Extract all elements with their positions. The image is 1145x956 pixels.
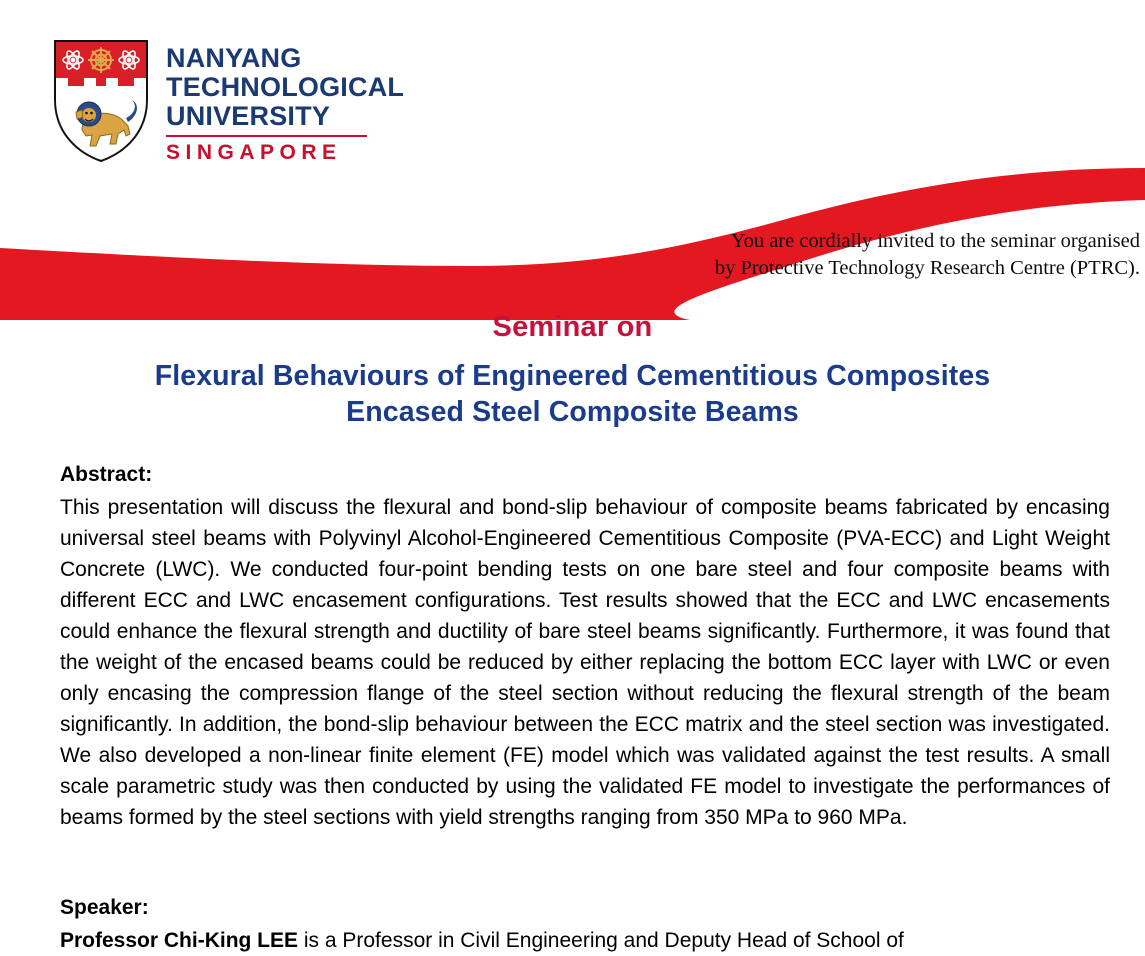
invitation-text: You are cordially invited to the seminar… <box>660 228 1140 282</box>
ntu-wordmark: NANYANG TECHNOLOGICAL UNIVERSITY SINGAPO… <box>166 38 404 165</box>
seminar-title: Flexural Behaviours of Engineered Cement… <box>0 358 1145 430</box>
ntu-crest-icon <box>52 38 150 164</box>
invitation-line-1: You are cordially invited to the seminar… <box>660 228 1140 255</box>
ntu-logo: NANYANG TECHNOLOGICAL UNIVERSITY SINGAPO… <box>52 38 404 165</box>
wordmark-line-nanyang: NANYANG <box>166 44 404 73</box>
seminar-title-line-2: Encased Steel Composite Beams <box>0 394 1145 430</box>
speaker-heading: Speaker: <box>60 896 149 920</box>
wordmark-line-technological: TECHNOLOGICAL <box>166 73 404 102</box>
seminar-title-line-1: Flexural Behaviours of Engineered Cement… <box>0 358 1145 394</box>
wordmark-divider <box>166 135 367 137</box>
wordmark-line-university: UNIVERSITY <box>166 102 404 131</box>
speaker-bio: is a Professor in Civil Engineering and … <box>298 929 904 952</box>
speaker-body: Professor Chi-King LEE is a Professor in… <box>60 925 1110 956</box>
abstract-heading: Abstract: <box>60 463 152 487</box>
speaker-name: Professor Chi-King LEE <box>60 929 298 952</box>
invitation-line-2: by Protective Technology Research Centre… <box>660 255 1140 282</box>
seminar-kicker: Seminar on <box>0 311 1145 344</box>
abstract-body: This presentation will discuss the flexu… <box>60 492 1110 833</box>
